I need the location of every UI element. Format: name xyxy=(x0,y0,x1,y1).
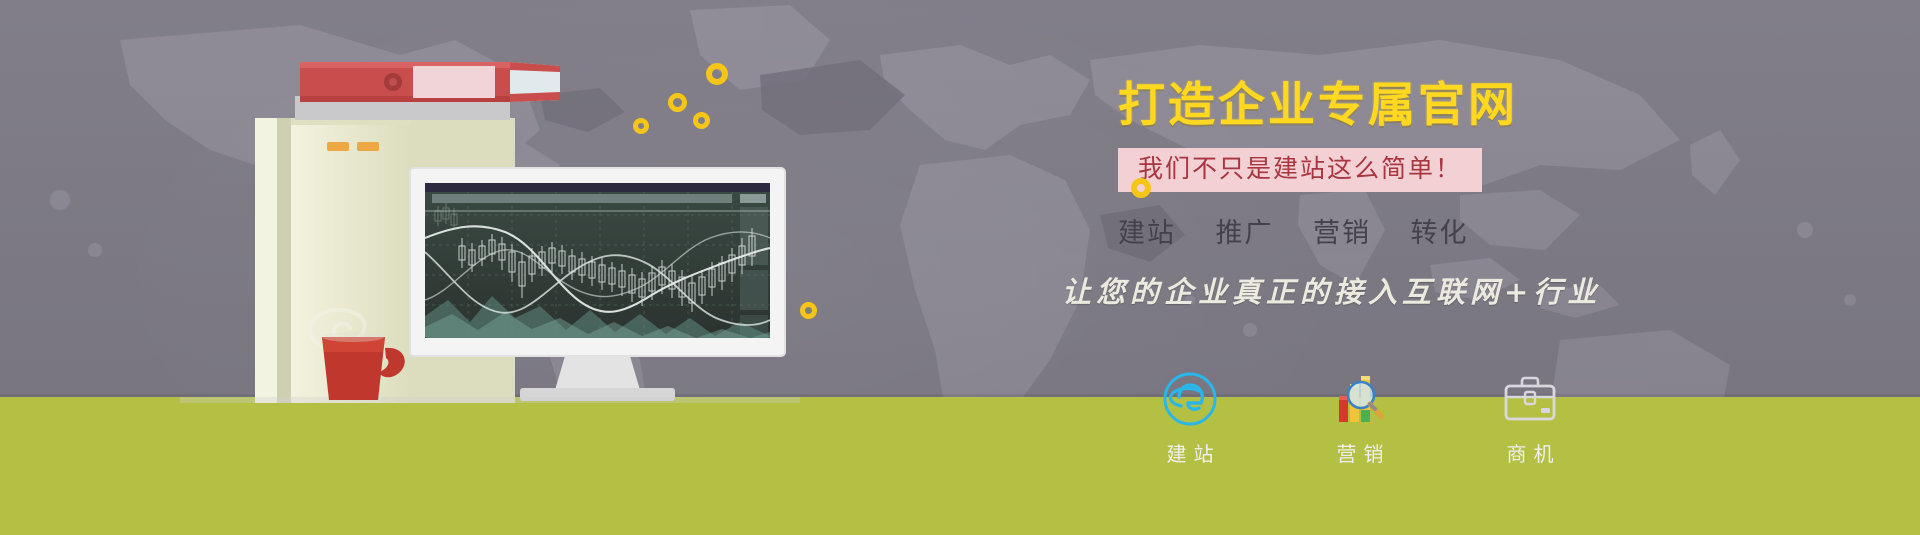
page-title: 打造企业专属官网 xyxy=(1118,80,1718,130)
red-binder xyxy=(300,62,560,102)
ring-dot-1 xyxy=(668,93,687,112)
chart-magnifier-icon xyxy=(1310,368,1410,430)
ring-dot-0 xyxy=(706,63,728,85)
hero-banner: 打造企业专属官网 我们不只是建站这么简单！ 建站 推广 营销 转化 让您的企业真… xyxy=(0,0,1920,535)
badge-row: 我们不只是建站这么简单！ xyxy=(1118,148,1718,192)
ring-dot-2 xyxy=(693,112,710,129)
ring-dot-5 xyxy=(1131,178,1151,198)
feature-label-jianzhan: 建站 xyxy=(1140,438,1240,467)
keyword-item-0: 建站 xyxy=(1118,211,1176,250)
feature-icon-row: 建站 营销 xyxy=(1140,368,1580,467)
ring-dot-4 xyxy=(800,302,817,319)
feature-label-shangji: 商机 xyxy=(1480,438,1580,467)
desk-illustration xyxy=(0,0,900,535)
briefcase-icon xyxy=(1480,368,1580,430)
feature-label-yingxiao: 营销 xyxy=(1310,438,1410,467)
feature-item-yingxiao[interactable]: 营销 xyxy=(1310,368,1410,467)
tagline: 让您的企业真正的接入互联网+行业 xyxy=(1062,269,1718,311)
keyword-item-2: 营销 xyxy=(1313,211,1371,250)
feature-item-shangji[interactable]: 商机 xyxy=(1480,368,1580,467)
subtitle-badge: 我们不只是建站这么简单！ xyxy=(1118,148,1482,192)
keyword-item-3: 转化 xyxy=(1411,211,1469,250)
feature-item-jianzhan[interactable]: 建站 xyxy=(1140,368,1240,467)
ie-browser-icon xyxy=(1140,368,1240,430)
keyword-list: 建站 推广 营销 转化 xyxy=(1118,211,1718,250)
keyword-item-1: 推广 xyxy=(1216,211,1274,250)
ring-dot-3 xyxy=(633,118,649,134)
hero-copy: 打造企业专属官网 我们不只是建站这么简单！ 建站 推广 营销 转化 让您的企业真… xyxy=(1118,80,1718,311)
